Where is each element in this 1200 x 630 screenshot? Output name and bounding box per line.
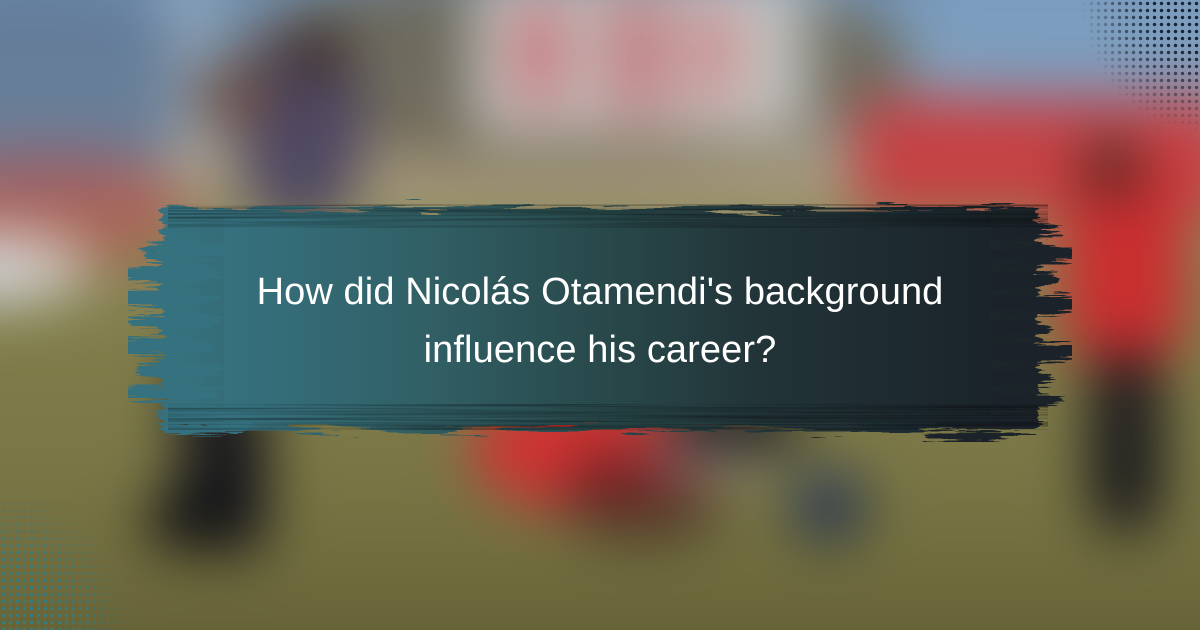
background-player-blue-arm <box>190 66 275 130</box>
background-scoreboard-panel-b <box>600 0 674 116</box>
headline-text: How did Nicolás Otamendi's background in… <box>215 264 985 380</box>
background-soccer-ball <box>789 469 867 543</box>
background-scoreboard-panel-c <box>691 4 740 102</box>
background-player-red-leg <box>1088 352 1164 532</box>
background-player-blue-boot <box>146 490 237 551</box>
background-goal-post <box>791 0 819 130</box>
background-player-red-head <box>1082 140 1141 197</box>
background-scoreboard-panel-a <box>511 0 566 106</box>
background-player-blue-head <box>293 21 348 80</box>
social-share-card: How did Nicolás Otamendi's background in… <box>0 0 1200 630</box>
